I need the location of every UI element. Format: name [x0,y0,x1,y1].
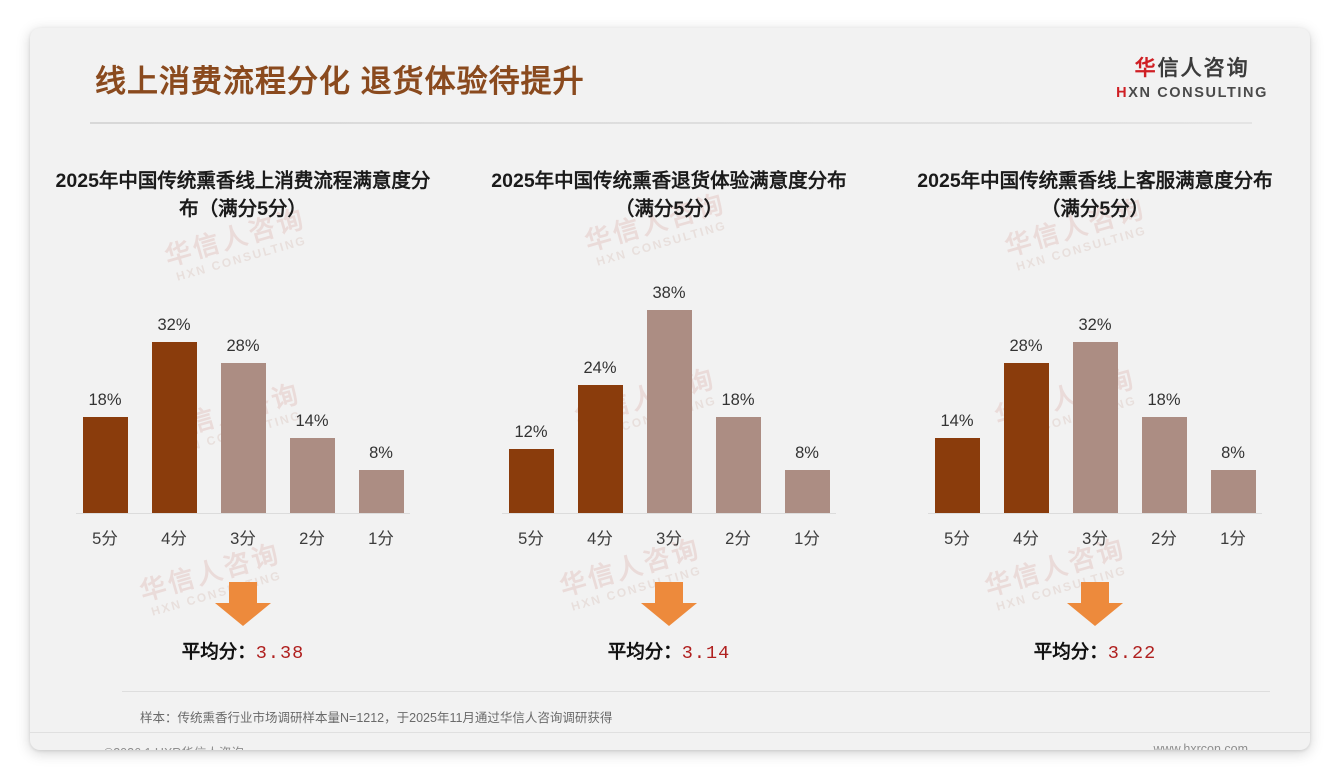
bar-slot: 8% [778,258,836,513]
logo-cn-accent: 华 [1135,57,1158,80]
bar-slot: 14% [928,258,986,513]
x-tick-label: 4分 [145,525,203,549]
x-tick-label: 3分 [214,525,272,549]
bar-chart-2: 12% 24% 38% 18% [456,258,882,558]
average-score: 平均分：3.38 [30,638,456,664]
x-axis-ticks: 5分 4分 3分 2分 1分 [928,525,1262,549]
logo-en-accent: H [1116,85,1128,101]
bar-slot: 8% [352,258,410,513]
x-tick-label: 1分 [1204,525,1262,549]
logo-english-text: HXN CONSULTING [1116,86,1268,101]
bar-value-label: 14% [940,412,973,431]
bar-value-label: 24% [583,359,616,378]
x-tick-label: 1分 [352,525,410,549]
bar[interactable] [935,438,980,513]
x-tick-label: 4分 [571,525,629,549]
footnote-divider [122,691,1270,692]
bar-value-label: 18% [1147,391,1180,410]
bar[interactable] [359,470,404,513]
bar-value-label: 12% [514,423,547,442]
bars-area: 14% 28% 32% 18% [928,258,1262,514]
bar-slot: 14% [283,258,341,513]
x-tick-label: 5分 [928,525,986,549]
x-tick-label: 5分 [76,525,134,549]
chart-title: 2025年中国传统熏香线上客服满意度分布（满分5分） [882,168,1308,226]
bar-value-label: 28% [1009,337,1042,356]
footer-divider [30,732,1310,733]
bar-slot: 18% [76,258,134,513]
chart-panel-3: 2025年中国传统熏香线上客服满意度分布（满分5分） 14% 28% 32% [882,168,1308,674]
average-block: 平均分：3.22 [882,582,1308,674]
x-axis-ticks: 5分 4分 3分 2分 1分 [502,525,836,549]
bar-value-label: 14% [295,412,328,431]
x-axis-ticks: 5分 4分 3分 2分 1分 [76,525,410,549]
bar-value-label: 32% [157,316,190,335]
bar-value-label: 18% [721,391,754,410]
bar[interactable] [221,363,266,513]
bar-value-label: 38% [652,284,685,303]
bar[interactable] [290,438,335,513]
x-tick-label: 1分 [778,525,836,549]
slide-card: 华信人咨询 HXN CONSULTING 华信人咨询 HXN CONSULTIN… [30,28,1310,750]
x-tick-label: 3分 [1066,525,1124,549]
bar[interactable] [578,385,623,513]
logo-chinese-text: 华信人咨询 [1116,58,1268,79]
bar[interactable] [152,342,197,513]
bar-value-label: 18% [88,391,121,410]
chart-panel-1: 2025年中国传统熏香线上消费流程满意度分布（满分5分） 18% 32% 28% [30,168,456,674]
average-label: 平均分： [608,641,682,662]
chart-title: 2025年中国传统熏香退货体验满意度分布（满分5分） [456,168,882,226]
bar-value-label: 8% [369,444,393,463]
logo-cn-rest: 信人咨询 [1158,57,1250,80]
x-tick-label: 2分 [283,525,341,549]
bar-slot: 38% [640,258,698,513]
website-link[interactable]: www.hxrcon.com [1154,742,1248,750]
slide-header: 线上消费流程分化 退货体验待提升 华信人咨询 HXN CONSULTING [30,28,1310,122]
bar-slot: 24% [571,258,629,513]
chart-panel-2: 2025年中国传统熏香退货体验满意度分布（满分5分） 12% 24% 38% [456,168,882,674]
bar-slot: 28% [214,258,272,513]
down-arrow-icon [215,582,271,626]
bar-chart-1: 18% 32% 28% 14% [30,258,456,558]
charts-row: 2025年中国传统熏香线上消费流程满意度分布（满分5分） 18% 32% 28% [30,168,1310,674]
bar-slot: 12% [502,258,560,513]
bar[interactable] [1142,417,1187,513]
bar-slot: 8% [1204,258,1262,513]
bar-chart-3: 14% 28% 32% 18% [882,258,1308,558]
down-arrow-icon [641,582,697,626]
bar[interactable] [1073,342,1118,513]
bar[interactable] [1004,363,1049,513]
bar-slot: 28% [997,258,1055,513]
x-tick-label: 5分 [502,525,560,549]
bar[interactable] [509,449,554,513]
header-divider [90,122,1252,124]
average-label: 平均分： [182,641,256,662]
bar-slot: 32% [1066,258,1124,513]
chart-title: 2025年中国传统熏香线上消费流程满意度分布（满分5分） [30,168,456,226]
average-value: 3.14 [682,643,730,664]
bar[interactable] [647,310,692,513]
x-tick-label: 4分 [997,525,1055,549]
logo-en-rest: XN CONSULTING [1128,85,1268,101]
average-block: 平均分：3.14 [456,582,882,674]
down-arrow-icon [1067,582,1123,626]
average-value: 3.22 [1108,643,1156,664]
bar-slot: 18% [1135,258,1193,513]
x-tick-label: 3分 [640,525,698,549]
bar-value-label: 8% [1221,444,1245,463]
bar-slot: 18% [709,258,767,513]
average-value: 3.38 [256,643,304,664]
bar-value-label: 28% [226,337,259,356]
x-tick-label: 2分 [1135,525,1193,549]
average-score: 平均分：3.22 [882,638,1308,664]
average-block: 平均分：3.38 [30,582,456,674]
bar-value-label: 8% [795,444,819,463]
bar-value-label: 32% [1078,316,1111,335]
bar-slot: 32% [145,258,203,513]
bar[interactable] [83,417,128,513]
bar[interactable] [716,417,761,513]
bar[interactable] [1211,470,1256,513]
x-tick-label: 2分 [709,525,767,549]
copyright-text: ©2026.1 HXR华信人咨询 [104,742,244,750]
company-logo: 华信人咨询 HXN CONSULTING [1116,58,1268,101]
bars-area: 18% 32% 28% 14% [76,258,410,514]
page-title: 线上消费流程分化 退货体验待提升 [95,56,585,101]
sample-note: 样本：传统熏香行业市场调研样本量N=1212，于2025年11月通过华信人咨询调… [140,707,612,726]
average-score: 平均分：3.14 [456,638,882,664]
average-label: 平均分： [1034,641,1108,662]
bar[interactable] [785,470,830,513]
bars-area: 12% 24% 38% 18% [502,258,836,514]
